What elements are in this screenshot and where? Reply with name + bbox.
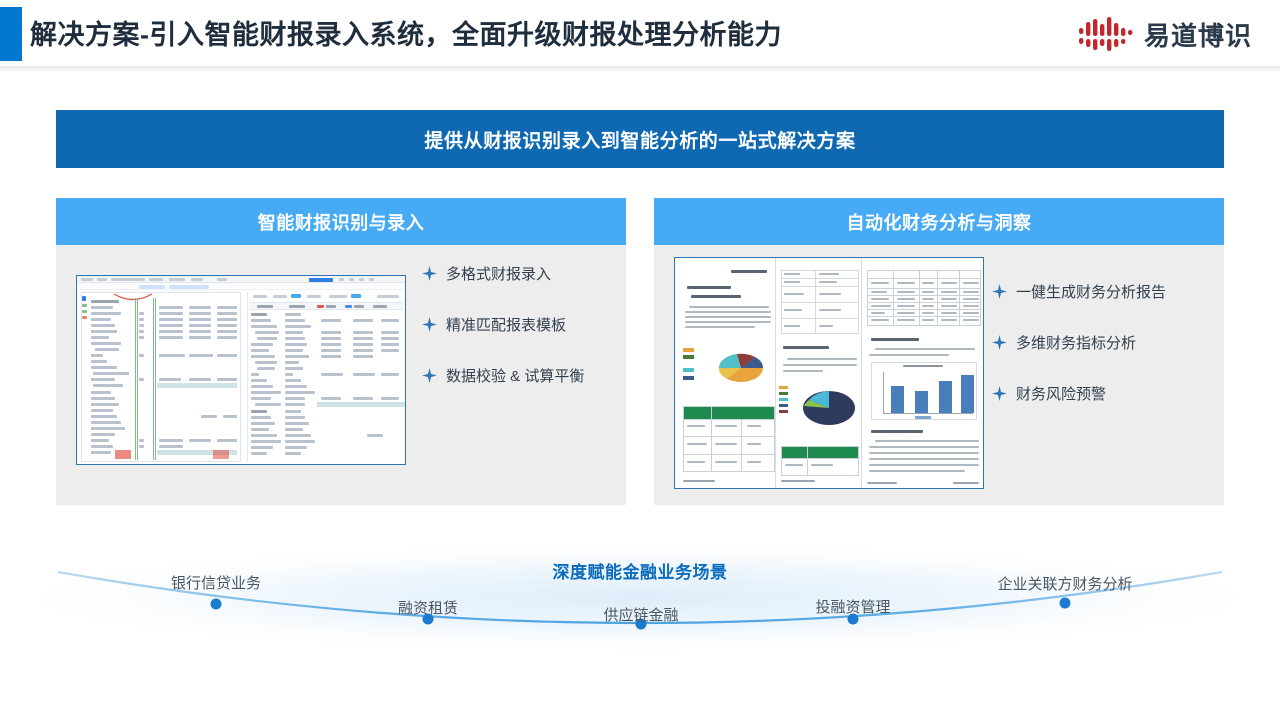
list-item: 精准匹配报表模板: [422, 314, 584, 335]
analysis-feature-list: 一健生成财务分析报告 多维财务指标分析 财务风险预警: [992, 281, 1166, 404]
sparkle-diamond-icon: [422, 317, 437, 332]
list-item-label: 一健生成财务分析报告: [1016, 281, 1166, 302]
column-recognition-body: 多格式财报录入 精准匹配报表模板 数据校验 & 试算平衡: [56, 245, 626, 505]
solution-banner: 提供从财报识别录入到智能分析的一站式解决方案: [56, 110, 1224, 168]
scenario-node-label-0[interactable]: 银行信贷业务: [171, 572, 261, 593]
page-title: 解决方案-引入智能财报录入系统，全面升级财报处理分析能力: [30, 13, 782, 52]
scenario-node-label-3[interactable]: 投融资管理: [815, 596, 890, 617]
column-analysis-header: 自动化财务分析与洞察: [654, 198, 1224, 245]
list-item: 数据校验 & 试算平衡: [422, 365, 584, 386]
slide-root: 解决方案-引入智能财报录入系统，全面升级财报处理分析能力: [0, 0, 1280, 720]
list-item: 多格式财报录入: [422, 263, 584, 284]
brand-logo: 易道博识: [1078, 14, 1252, 54]
scenario-node-label-1[interactable]: 融资租赁: [398, 597, 458, 618]
list-item: 财务风险预警: [992, 383, 1166, 404]
column-recognition-title: 智能财报识别与录入: [258, 209, 425, 235]
list-item-label: 多维财务指标分析: [1016, 332, 1136, 353]
header-divider: [0, 66, 1280, 73]
column-recognition-header: 智能财报识别与录入: [56, 198, 626, 245]
list-item: 一健生成财务分析报告: [992, 281, 1166, 302]
header-accent-bar: [0, 7, 22, 61]
column-analysis: 自动化财务分析与洞察: [654, 198, 1224, 505]
waveform-bars-logo-icon: [1078, 15, 1134, 53]
financial-statement-recognition-screenshot: [76, 275, 406, 465]
column-recognition: 智能财报识别与录入: [56, 198, 626, 505]
sparkle-diamond-icon: [422, 368, 437, 383]
list-item: 多维财务指标分析: [992, 332, 1166, 353]
list-item-label: 多格式财报录入: [446, 263, 551, 284]
slide-header: 解决方案-引入智能财报录入系统，全面升级财报处理分析能力: [0, 0, 1280, 68]
list-item-label: 精准匹配报表模板: [446, 314, 566, 335]
sparkle-diamond-icon: [992, 386, 1007, 401]
scenario-node-label-4[interactable]: 企业关联方财务分析: [997, 573, 1132, 594]
list-item-label: 财务风险预警: [1016, 383, 1106, 404]
recognition-feature-list: 多格式财报录入 精准匹配报表模板 数据校验 & 试算平衡: [422, 263, 584, 386]
scenario-section: 深度赋能金融业务场景 银行信贷业务 融资租赁 供应链金融 投融资管理 企业关联方…: [0, 540, 1280, 680]
scenario-node-label-2[interactable]: 供应链金融: [603, 604, 678, 625]
sparkle-diamond-icon: [992, 284, 1007, 299]
column-analysis-title: 自动化财务分析与洞察: [847, 209, 1032, 235]
column-analysis-body: 一健生成财务分析报告 多维财务指标分析 财务风险预警: [654, 245, 1224, 505]
sparkle-diamond-icon: [992, 335, 1007, 350]
brand-name: 易道博识: [1144, 16, 1252, 53]
solution-banner-text: 提供从财报识别录入到智能分析的一站式解决方案: [424, 126, 855, 153]
list-item-label: 数据校验 & 试算平衡: [446, 365, 584, 386]
financial-analysis-report-screenshot: [674, 257, 984, 489]
sparkle-diamond-icon: [422, 266, 437, 281]
